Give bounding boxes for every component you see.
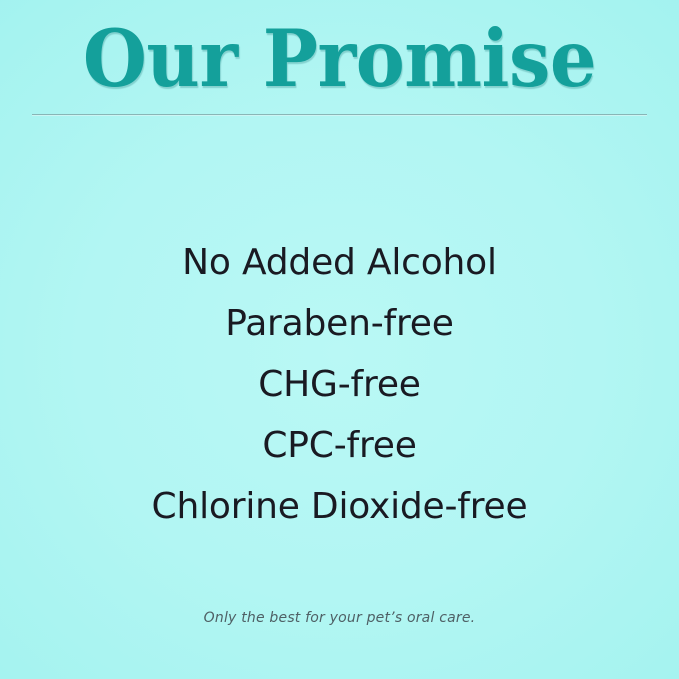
page-title: Our Promise <box>24 18 655 101</box>
claim-item-chlorine-dioxide-free: Chlorine Dioxide-free <box>0 476 679 537</box>
title-block: Our Promise <box>0 18 679 101</box>
our-promise-card: Our Promise No Added Alcohol Paraben-fre… <box>0 0 679 679</box>
claims-list: No Added Alcohol Paraben-free CHG-free C… <box>0 232 679 537</box>
claim-item-chg-free: CHG-free <box>0 354 679 415</box>
claim-item-no-added-alcohol: No Added Alcohol <box>0 232 679 293</box>
claim-item-paraben-free: Paraben-free <box>0 293 679 354</box>
horizontal-divider <box>32 114 647 116</box>
footer-tagline: Only the best for your pet’s oral care. <box>0 610 679 626</box>
claim-item-cpc-free: CPC-free <box>0 415 679 476</box>
